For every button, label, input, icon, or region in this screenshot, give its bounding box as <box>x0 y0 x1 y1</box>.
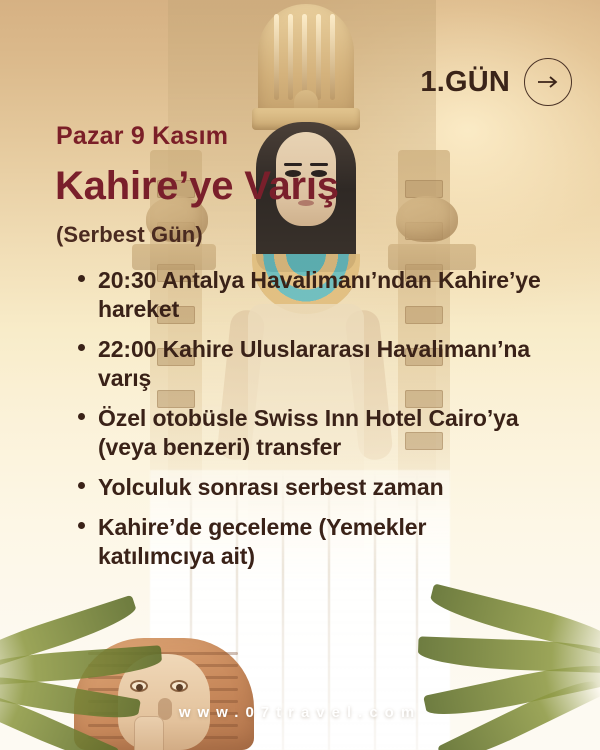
date-text: Pazar 9 Kasım <box>56 122 228 151</box>
day-label: 1.GÜN <box>420 68 510 97</box>
bullet-icon <box>78 275 85 282</box>
bullet-icon <box>78 482 85 489</box>
itinerary-list: 20:30 Antalya Havalimanı’ndan Kahire’ye … <box>72 266 542 582</box>
page-title: Kahire’ye Varış <box>55 165 339 207</box>
page-subtitle: (Serbest Gün) <box>56 222 203 248</box>
list-item: Yolculuk sonrası serbest zaman <box>72 473 542 502</box>
list-item: Özel otobüsle Swiss Inn Hotel Cairo’ya (… <box>72 404 542 462</box>
list-item-text: 22:00 Kahire Uluslararası Havalimanı’na … <box>98 336 530 391</box>
list-item-text: 20:30 Antalya Havalimanı’ndan Kahire’ye … <box>98 267 541 322</box>
list-item-text: Yolculuk sonrası serbest zaman <box>98 474 444 500</box>
bullet-icon <box>78 522 85 529</box>
arrow-right-icon[interactable] <box>524 58 572 106</box>
website-watermark: www.07travel.com <box>0 704 600 721</box>
list-item: 22:00 Kahire Uluslararası Havalimanı’na … <box>72 335 542 393</box>
itinerary-poster: 1.GÜN Pazar 9 Kasım Kahire’ye Varış (Ser… <box>0 0 600 750</box>
bullet-icon <box>78 413 85 420</box>
poster-content: 1.GÜN Pazar 9 Kasım Kahire’ye Varış (Ser… <box>0 0 600 750</box>
list-item-text: Kahire’de geceleme (Yemekler katılımcıya… <box>98 514 426 569</box>
list-item: 20:30 Antalya Havalimanı’ndan Kahire’ye … <box>72 266 542 324</box>
bullet-icon <box>78 344 85 351</box>
list-item-text: Özel otobüsle Swiss Inn Hotel Cairo’ya (… <box>98 405 519 460</box>
list-item: Kahire’de geceleme (Yemekler katılımcıya… <box>72 513 542 571</box>
day-badge[interactable]: 1.GÜN <box>420 58 572 106</box>
